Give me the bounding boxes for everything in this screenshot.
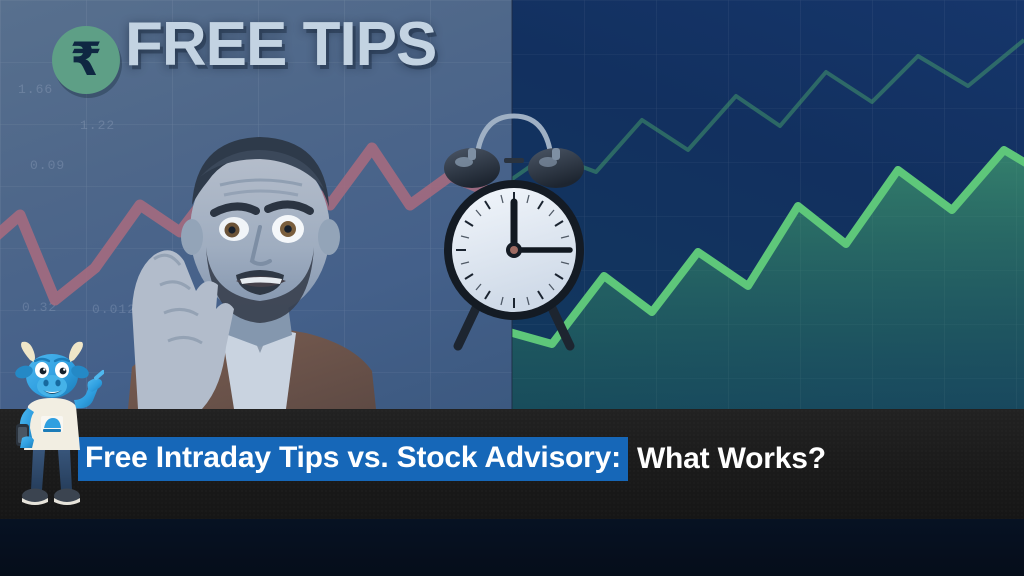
caption-highlight: Free Intraday Tips vs. Stock Advisory: [78,437,628,481]
alarm-clock-icon [438,110,590,360]
footer-strip [0,519,1024,576]
banner-image: 1.66 0.09 1.22 0.32 0.012 [0,0,1024,409]
thumbnail-canvas: 1.66 0.09 1.22 0.32 0.012 [0,0,1024,576]
caption-title: Free Intraday Tips vs. Stock Advisory: W… [78,437,826,481]
bull-mascot [0,338,104,510]
rupee-icon: ₹ [52,26,120,94]
left-headline: FREE TIPS [125,14,436,76]
rupee-symbol: ₹ [70,36,102,82]
caption-plain: What Works? [628,442,826,476]
mascot-shirt-logo [41,416,63,432]
worried-man-photo [110,109,390,409]
